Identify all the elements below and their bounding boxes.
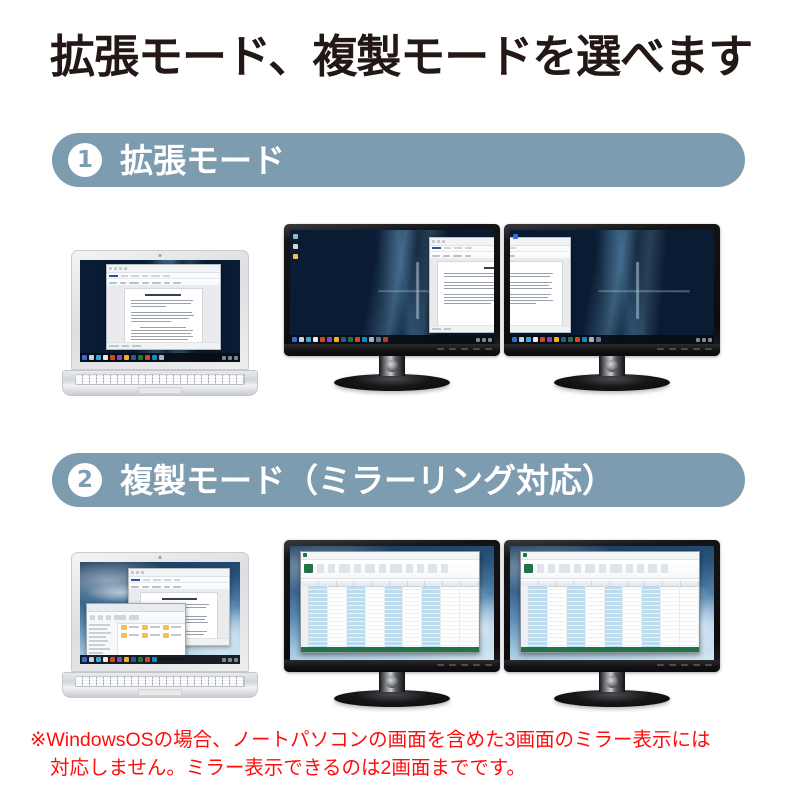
window-titlebar[interactable]: [510, 238, 570, 246]
monitor-screen: [510, 546, 714, 660]
laptop-duplicate-mode: [62, 552, 258, 698]
window-titlebar[interactable]: [129, 569, 229, 577]
excel-icon: [303, 553, 307, 557]
window-titlebar[interactable]: [301, 552, 479, 560]
spreadsheet-grid[interactable]: [521, 581, 699, 648]
excel-status-bar: [521, 647, 699, 652]
list-item: [121, 633, 139, 638]
laptop-base: [62, 672, 258, 698]
window-titlebar[interactable]: [87, 604, 184, 612]
section-number-badge-1: 1: [68, 143, 102, 177]
document-sheet: [124, 288, 203, 343]
monitor-base: [334, 374, 450, 391]
footnote-line-1: ※WindowsOSの場合、ノートパソコンの画面を含めた3画面のミラー表示には: [30, 729, 710, 751]
laptop-trackpad[interactable]: [138, 689, 182, 696]
page-title: 拡張モード、複製モードを選べます: [50, 34, 752, 79]
taskbar[interactable]: [80, 655, 240, 664]
explorer-body: [87, 622, 184, 657]
excel-window[interactable]: [520, 551, 700, 654]
system-tray[interactable]: [222, 658, 238, 662]
document-sheet: [437, 261, 494, 326]
monitor-osd-buttons[interactable]: [657, 664, 712, 666]
spreadsheet-rows[interactable]: [301, 586, 479, 648]
monitor-chin: [284, 344, 500, 356]
folder-icon: [142, 633, 148, 638]
desktop-icons[interactable]: [513, 234, 518, 239]
monitor-osd-buttons[interactable]: [437, 348, 492, 350]
laptop-keyboard[interactable]: [75, 676, 245, 687]
monitor-base: [554, 690, 670, 707]
section-label-2: 複製モード（ミラーリング対応）: [120, 464, 615, 497]
document-heading: [145, 294, 181, 296]
folder-icon: [163, 625, 169, 630]
ribbon-toolbar[interactable]: [301, 560, 479, 579]
taskbar[interactable]: [510, 335, 714, 344]
taskbar[interactable]: [290, 335, 494, 344]
list-item: [142, 633, 160, 638]
laptop-extended-mode: [62, 250, 258, 396]
folder-icon: [142, 625, 148, 630]
monitor-chin: [504, 344, 720, 356]
document-sheet: [510, 261, 563, 326]
laptop-screen: [80, 562, 240, 664]
monitor-bezel: [504, 540, 720, 672]
document-page-area: [430, 258, 494, 326]
window-titlebar[interactable]: [107, 265, 220, 273]
window-titlebar[interactable]: [521, 552, 699, 560]
word-status-bar: [510, 325, 570, 332]
monitor-screen: [510, 230, 714, 344]
monitor-chin: [504, 660, 720, 672]
system-tray[interactable]: [696, 338, 712, 342]
folder-icon: [121, 625, 127, 630]
device-group-extended-mode: [0, 212, 800, 412]
laptop-trackpad[interactable]: [138, 387, 182, 394]
excel-icon: [523, 553, 527, 557]
spreadsheet-grid[interactable]: [301, 581, 479, 648]
monitor-bezel: [284, 224, 500, 356]
monitor-osd-buttons[interactable]: [437, 664, 492, 666]
device-group-duplicate-mode: [0, 532, 800, 722]
list-item: [142, 625, 160, 630]
monitor-screen: [290, 230, 494, 344]
laptop-keyboard[interactable]: [75, 374, 245, 385]
excel-status-bar: [301, 647, 479, 652]
list-item: [121, 625, 139, 630]
explorer-nav-pane[interactable]: [87, 622, 117, 657]
document-page-area: [107, 285, 220, 343]
system-tray[interactable]: [222, 356, 238, 360]
laptop-lid: [71, 250, 249, 370]
word-status-bar: [107, 342, 220, 349]
webcam-icon: [159, 254, 162, 257]
monitor-neck: [599, 356, 625, 376]
taskbar[interactable]: [80, 353, 240, 362]
document-page-area: [510, 258, 570, 326]
system-tray[interactable]: [476, 338, 492, 342]
taskbar-icons[interactable]: [512, 337, 601, 342]
word-document-window[interactable]: [429, 237, 494, 333]
webcam-icon: [159, 556, 162, 559]
laptop-screen: [80, 260, 240, 362]
monitor-neck: [379, 672, 405, 692]
monitor-base: [334, 690, 450, 707]
word-status-bar: [430, 325, 494, 332]
explorer-file-list[interactable]: [118, 622, 185, 657]
monitor-osd-buttons[interactable]: [657, 348, 712, 350]
list-item: [163, 633, 181, 638]
ribbon-toolbar[interactable]: [521, 560, 699, 579]
monitor-right-extended: [504, 224, 720, 391]
desktop-icons[interactable]: [293, 234, 298, 259]
taskbar-icons[interactable]: [292, 337, 388, 342]
taskbar-icons[interactable]: [82, 657, 157, 662]
monitor-left-duplicate: [284, 540, 500, 707]
word-document-window[interactable]: [510, 237, 571, 333]
folder-icon: [121, 633, 127, 638]
monitor-screen: [290, 546, 494, 660]
section-banner-1: 1 拡張モード: [52, 133, 745, 187]
monitor-bezel: [284, 540, 500, 672]
laptop-base: [62, 370, 258, 396]
excel-window[interactable]: [300, 551, 480, 654]
monitor-base: [554, 374, 670, 391]
monitor-bezel: [504, 224, 720, 356]
taskbar-icons[interactable]: [82, 355, 164, 360]
spreadsheet-rows[interactable]: [521, 586, 699, 648]
windows-logo-icon: [598, 258, 689, 322]
file-explorer-window[interactable]: [86, 603, 185, 658]
section-label-1: 拡張モード: [120, 144, 285, 177]
laptop-lid: [71, 552, 249, 672]
monitor-neck: [599, 672, 625, 692]
section-number-badge-2: 2: [68, 463, 102, 497]
monitor-chin: [284, 660, 500, 672]
monitor-neck: [379, 356, 405, 376]
section-banner-2: 2 複製モード（ミラーリング対応）: [52, 453, 745, 507]
window-titlebar[interactable]: [430, 238, 494, 246]
footnote: ※WindowsOSの場合、ノートパソコンの画面を含めた3画面のミラー表示には …: [30, 726, 770, 783]
monitor-right-duplicate: [504, 540, 720, 707]
word-document-window[interactable]: [106, 264, 221, 350]
footnote-line-2: 対応しません。ミラー表示できるのは2画面までです。: [30, 754, 770, 782]
document-heading: [162, 598, 197, 600]
folder-icon: [163, 633, 169, 638]
list-item: [163, 625, 181, 630]
monitor-left-extended: [284, 224, 500, 391]
